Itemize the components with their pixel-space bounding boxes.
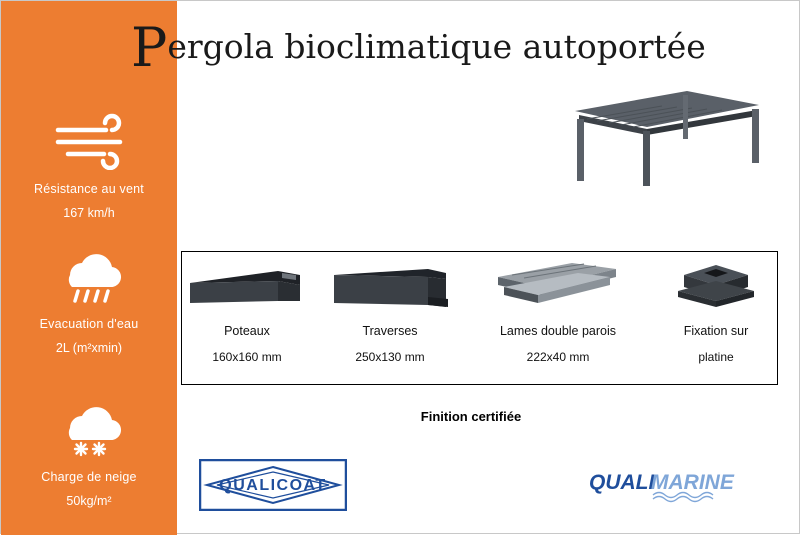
title-initial: P: [131, 16, 167, 79]
poster-page: Résistance au vent 167 km/h Evacuation d…: [0, 0, 800, 534]
qualimarine-wordmark-1: QUALI: [589, 471, 655, 494]
qualimarine-wordmark-2: MARINE: [651, 471, 735, 494]
post-profile-icon: [182, 258, 312, 316]
component-dim-poteaux: 160x160 mm: [182, 350, 312, 364]
qualimarine-logo: QUALI MARINE: [587, 467, 737, 503]
sidebar-label-water: Evacuation d'eau: [1, 317, 177, 331]
sidebar-label-wind: Résistance au vent: [1, 182, 177, 196]
wind-icon: [1, 106, 177, 176]
component-name-traverses: Traverses: [320, 324, 460, 338]
sidebar: Résistance au vent 167 km/h Evacuation d…: [1, 1, 177, 535]
component-dim-fixation: platine: [656, 350, 776, 364]
components-box: Poteaux 160x160 mm Traverses 250x130 mm: [181, 251, 778, 385]
page-title: Pergola bioclimatique autoportée: [131, 27, 706, 66]
title-rest: ergola bioclimatique autoportée: [167, 27, 705, 66]
component-dim-lames: 222x40 mm: [468, 350, 648, 364]
component-name-fixation: Fixation sur: [656, 324, 776, 338]
qualicoat-wordmark: QUALICOAT: [219, 477, 326, 494]
beam-profile-icon: [320, 258, 460, 316]
qualicoat-logo: QUALICOAT: [199, 459, 347, 511]
finition-label: Finition certifiée: [1, 409, 800, 424]
sidebar-block-wind: Résistance au vent 167 km/h: [1, 106, 177, 220]
rain-cloud-icon: [1, 241, 177, 311]
component-poteaux: Poteaux 160x160 mm: [182, 252, 312, 386]
component-traverses: Traverses 250x130 mm: [320, 252, 460, 386]
sidebar-label-snow: Charge de neige: [1, 470, 177, 484]
double-wall-blades-icon: [468, 258, 648, 316]
sidebar-value-snow: 50kg/m²: [1, 494, 177, 508]
component-lames: Lames double parois 222x40 mm: [468, 252, 648, 386]
pergola-illustration-icon: [567, 83, 767, 193]
base-plate-fixing-icon: [656, 258, 776, 316]
sidebar-value-wind: 167 km/h: [1, 206, 177, 220]
sidebar-block-water: Evacuation d'eau 2L (m²xmin): [1, 241, 177, 355]
component-fixation: Fixation sur platine: [656, 252, 776, 386]
component-dim-traverses: 250x130 mm: [320, 350, 460, 364]
component-name-lames: Lames double parois: [468, 324, 648, 338]
sidebar-value-water: 2L (m²xmin): [1, 341, 177, 355]
component-name-poteaux: Poteaux: [182, 324, 312, 338]
snow-cloud-icon: [1, 394, 177, 464]
